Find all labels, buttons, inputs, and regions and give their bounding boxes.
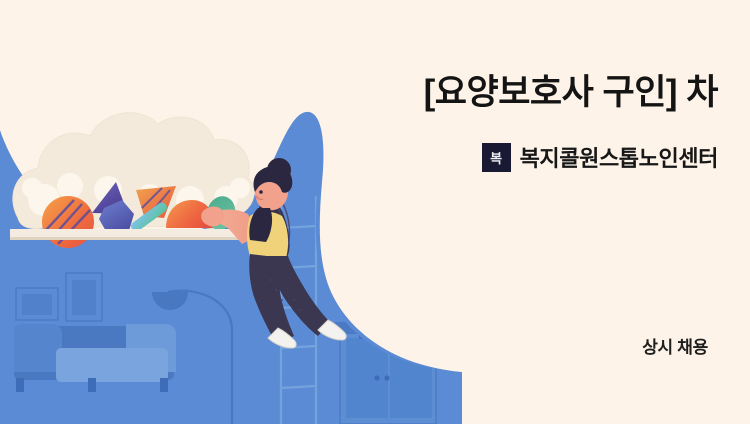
company-name: 복지콜원스톱노인센터 — [520, 141, 718, 173]
illustration-scene — [0, 0, 750, 424]
job-posting-poster: [요양보호사 구인] 차 복 복지콜원스톱노인센터 상시 채용 — [0, 0, 750, 424]
status-badge: 상시 채용 — [642, 333, 708, 358]
company-row[interactable]: 복 복지콜원스톱노인센터 — [482, 141, 718, 173]
company-logo-badge: 복 — [482, 143, 511, 172]
orange-striped-sphere — [42, 196, 94, 248]
page-title: [요양보호사 구인] 차 — [424, 72, 718, 114]
shelf-board — [10, 229, 244, 240]
